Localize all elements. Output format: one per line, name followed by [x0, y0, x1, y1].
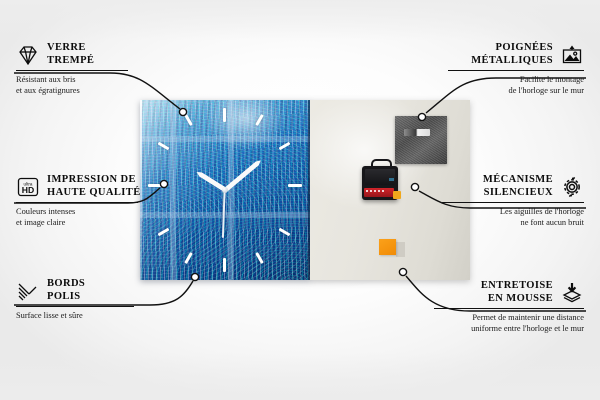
- foam-spacer-shadow: [396, 242, 405, 257]
- callout-divider: [16, 70, 128, 71]
- callout-header: BORDS POLIS: [16, 278, 152, 303]
- callout-header: POIGNÉES MÉTALLIQUES: [448, 42, 584, 67]
- callout-divider: [448, 70, 584, 71]
- product-image: [140, 100, 470, 280]
- callout-bords-polis: BORDS POLIS Surface lisse et sûre: [16, 278, 152, 322]
- callout-title: VERRE TREMPÉ: [47, 42, 94, 67]
- mechanism-indicator: [389, 178, 394, 181]
- clock-front-panel: [140, 100, 310, 280]
- metal-hanger-plate: [395, 116, 447, 164]
- callout-entretoise: ENTRETOISE EN MOUSSE Permet de maintenir…: [434, 280, 584, 334]
- callout-header: VERRE TREMPÉ: [16, 42, 146, 67]
- mechanism-face: [365, 169, 395, 185]
- callout-header: ultra HD IMPRESSION DE HAUTE QUALITÉ: [16, 174, 156, 199]
- callout-divider: [16, 202, 138, 203]
- callout-header: MÉCANISME SILENCIEUX: [442, 174, 584, 199]
- svg-text:HD: HD: [22, 185, 34, 195]
- callout-title: POIGNÉES MÉTALLIQUES: [471, 42, 553, 67]
- callout-title: BORDS POLIS: [47, 278, 85, 303]
- callout-mecanisme: MÉCANISME SILENCIEUX Les aiguilles de l'…: [442, 174, 584, 228]
- callout-title: IMPRESSION DE HAUTE QUALITÉ: [47, 174, 141, 199]
- picture-hanger-icon: [560, 43, 584, 67]
- diamond-icon: [16, 43, 40, 67]
- callout-title: MÉCANISME SILENCIEUX: [483, 174, 553, 199]
- hand-cap: [222, 187, 228, 193]
- foam-spacer-icon: [560, 281, 584, 305]
- gear-icon: [560, 175, 584, 199]
- callout-title: ENTRETOISE EN MOUSSE: [481, 280, 553, 305]
- polished-edges-icon: [16, 279, 40, 303]
- infographic-canvas: VERRE TREMPÉ Résistant aux bris et aux é…: [0, 0, 600, 400]
- hanger-slot: [404, 129, 430, 136]
- clock-mechanism: [362, 166, 398, 200]
- callout-divider: [434, 308, 584, 309]
- callout-divider: [16, 306, 134, 307]
- foam-spacer: [379, 239, 396, 255]
- callout-impression: ultra HD IMPRESSION DE HAUTE QUALITÉ Cou…: [16, 174, 156, 228]
- callout-header: ENTRETOISE EN MOUSSE: [434, 280, 584, 305]
- ultra-hd-icon: ultra HD: [16, 175, 40, 199]
- callout-divider: [442, 202, 584, 203]
- callout-poignees: POIGNÉES MÉTALLIQUES Facilite le montage…: [448, 42, 584, 96]
- callout-verre-trempe: VERRE TREMPÉ Résistant aux bris et aux é…: [16, 42, 146, 96]
- battery-terminal: [393, 191, 401, 199]
- hanger-grain: [395, 116, 447, 164]
- battery-label: [366, 190, 386, 192]
- battery: [364, 188, 394, 197]
